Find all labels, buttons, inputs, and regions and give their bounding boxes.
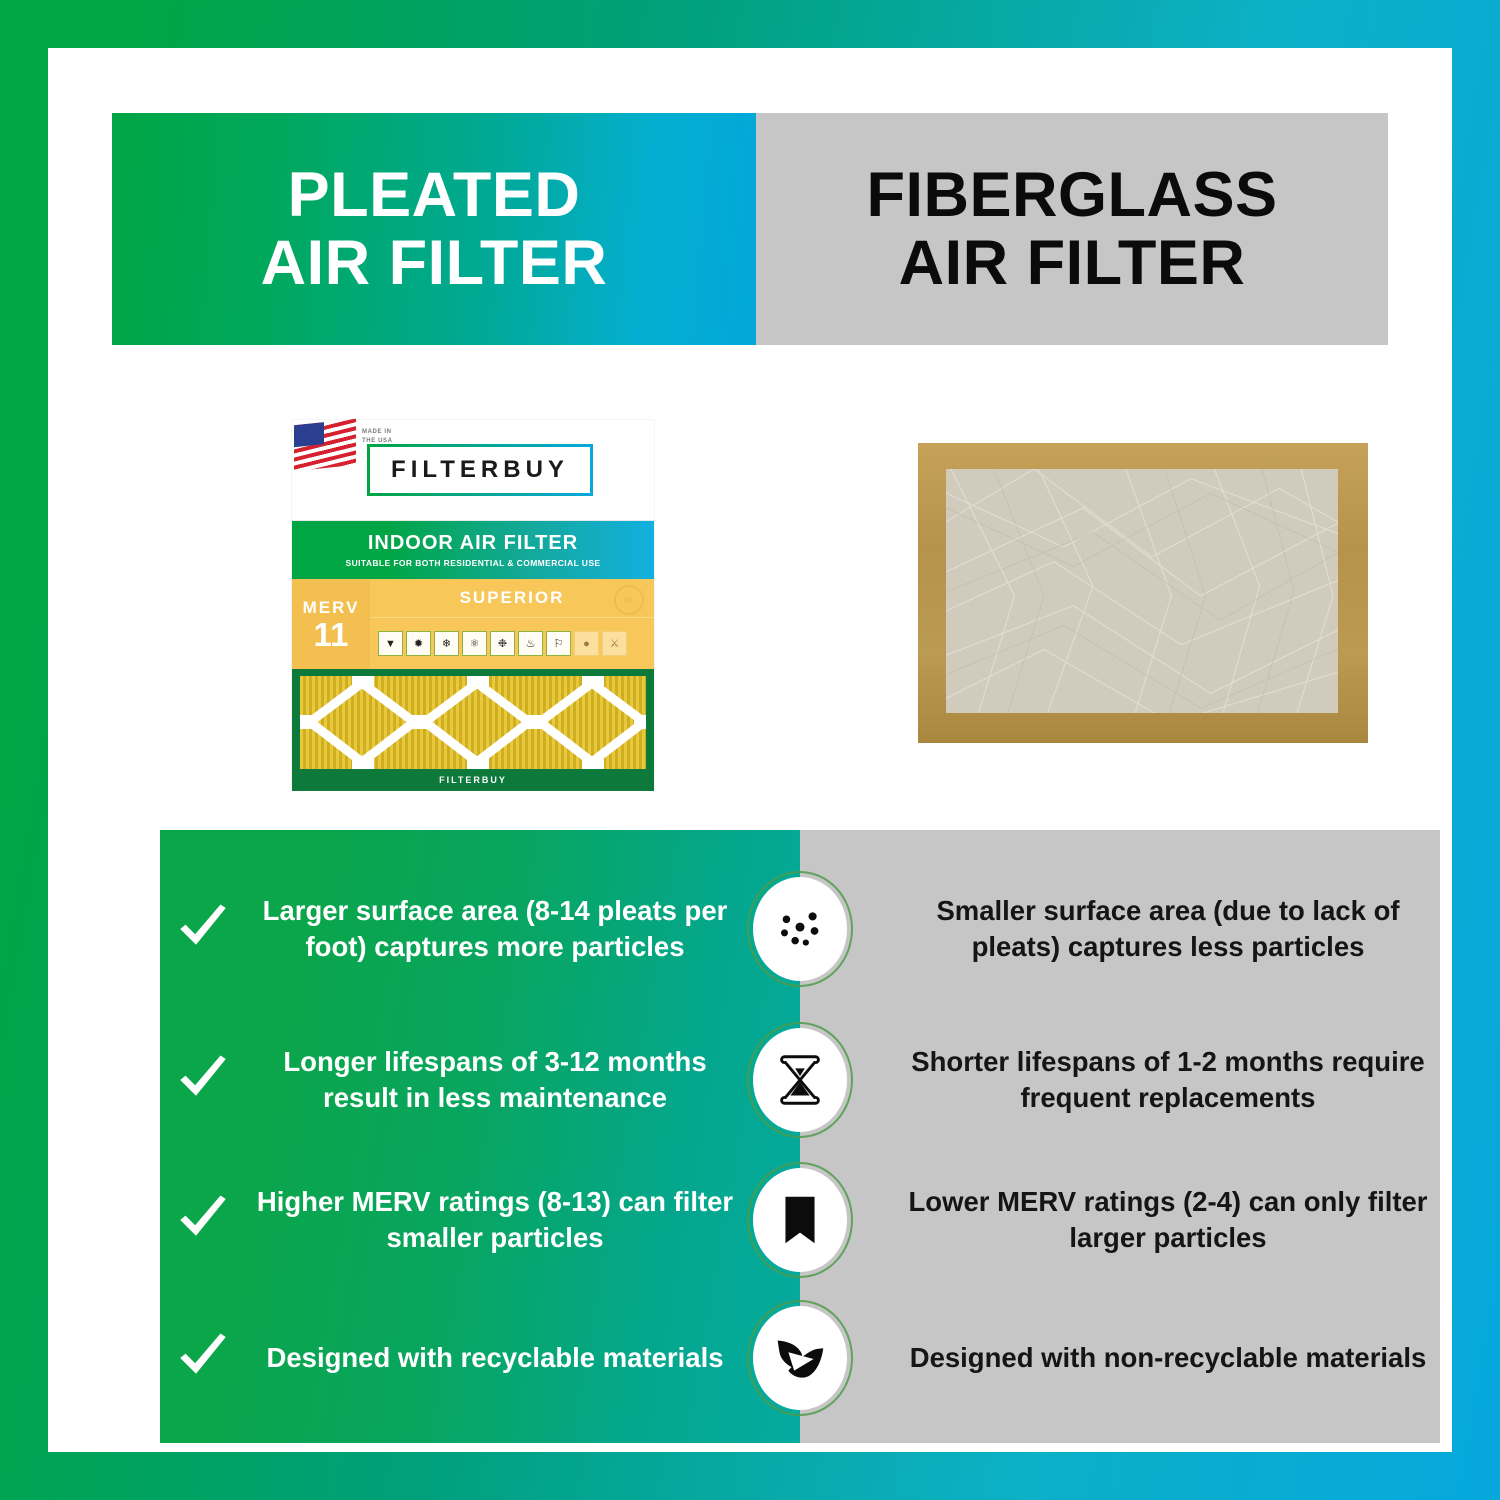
bookmark-glyph <box>769 1189 831 1251</box>
header-fiberglass: FIBERGLASS AIR FILTER <box>756 113 1388 345</box>
bookmark-icon <box>747 1162 853 1278</box>
merv-badge: MERV 11 <box>292 579 370 669</box>
check-mark-icon <box>160 1192 246 1248</box>
row-3-fiberglass-cell: Lower MERV ratings (2-4) can only filter… <box>800 1184 1440 1256</box>
check-mark-icon <box>160 1052 246 1108</box>
row-4-fiberglass-cell: Designed with non-recyclable materials <box>800 1340 1440 1376</box>
odor-icon-disabled: ● <box>574 631 599 656</box>
row-4-pleated-cell: Designed with recyclable materials <box>160 1330 800 1386</box>
comparison-row: Higher MERV ratings (8-13) can filter sm… <box>160 1160 1440 1280</box>
dust-icon: ▼ <box>378 631 403 656</box>
package-merv-section: MERV 11 SUPERIOR UL ▼ ✹ ❄ ⚛ ❉ <box>292 579 654 669</box>
particles-glyph <box>769 898 831 960</box>
row-2-fiberglass-text: Shorter lifespans of 1-2 months require … <box>896 1044 1440 1116</box>
check-mark-icon <box>160 1330 246 1386</box>
product-image-row: MADE IN THE USA FILTERBUY INDOOR AIR FIL… <box>112 358 1388 778</box>
tier-label: SUPERIOR <box>460 588 565 608</box>
pet-dander-icon: ♨ <box>518 631 543 656</box>
hourglass-glyph <box>769 1049 831 1111</box>
infographic-canvas: PLEATED AIR FILTER FIBERGLASS AIR FILTER… <box>48 48 1452 1452</box>
filterbuy-logo: FILTERBUY <box>367 444 593 496</box>
row-1-pleated-cell: Larger surface area (8-14 pleats per foo… <box>160 893 800 965</box>
row-3-fiberglass-text: Lower MERV ratings (2-4) can only filter… <box>896 1184 1440 1256</box>
row-4-pleated-text: Designed with recyclable materials <box>246 1340 744 1376</box>
filterbuy-wordmark: FILTERBUY <box>391 456 569 484</box>
capability-icon-strip: ▼ ✹ ❄ ⚛ ❉ ♨ ⚐ ● ⚔ <box>370 618 654 669</box>
pleated-filter-media: FILTERBUY <box>292 669 654 791</box>
merv-value: 11 <box>314 618 349 651</box>
particles-icon <box>747 871 853 987</box>
merv-label: MERV <box>303 598 360 618</box>
package-band-title: INDOOR AIR FILTER <box>368 532 578 555</box>
row-2-pleated-text: Longer lifespans of 3-12 months result i… <box>246 1044 744 1116</box>
virus-icon-disabled: ⚔ <box>602 631 627 656</box>
row-1-pleated-text: Larger surface area (8-14 pleats per foo… <box>246 893 744 965</box>
comparison-section: Larger surface area (8-14 pleats per foo… <box>160 830 1440 1443</box>
pleated-filter-package-image: MADE IN THE USA FILTERBUY INDOOR AIR FIL… <box>292 420 654 790</box>
header-fiberglass-line2: AIR FILTER <box>899 228 1246 298</box>
header-pleated: PLEATED AIR FILTER <box>112 113 756 345</box>
hourglass-icon <box>747 1022 853 1138</box>
package-band-subtitle: SUITABLE FOR BOTH RESIDENTIAL & COMMERCI… <box>346 558 601 568</box>
row-1-fiberglass-cell: Smaller surface area (due to lack of ple… <box>800 893 1440 965</box>
check-mark-icon <box>160 901 246 957</box>
header-pleated-line2: AIR FILTER <box>261 228 608 298</box>
leaf-eco-icon <box>747 1300 853 1416</box>
comparison-row: Larger surface area (8-14 pleats per foo… <box>160 854 1440 1004</box>
usa-flag-icon <box>294 419 356 472</box>
mold-icon: ❉ <box>490 631 515 656</box>
insect-icon: ✹ <box>406 631 431 656</box>
white-support-mesh <box>300 676 646 769</box>
fiberglass-filter-image <box>918 443 1368 743</box>
fiberglass-fiber-media <box>946 469 1338 713</box>
package-merv-right: SUPERIOR UL ▼ ✹ ❄ ⚛ ❉ ♨ ⚐ ● ⚔ <box>370 579 654 669</box>
comparison-rows: Larger surface area (8-14 pleats per foo… <box>160 830 1440 1443</box>
row-1-fiberglass-text: Smaller surface area (due to lack of ple… <box>896 893 1440 965</box>
smoke-icon: ⚐ <box>546 631 571 656</box>
leaf-eco-glyph <box>769 1327 831 1389</box>
header-fiberglass-line1: FIBERGLASS <box>866 160 1277 230</box>
header-row: PLEATED AIR FILTER FIBERGLASS AIR FILTER <box>112 113 1388 345</box>
package-footer-brand-bar: FILTERBUY <box>292 769 654 791</box>
infographic-frame: PLEATED AIR FILTER FIBERGLASS AIR FILTER… <box>0 0 1500 1500</box>
package-footer-brand: FILTERBUY <box>439 775 507 785</box>
package-header: MADE IN THE USA FILTERBUY <box>292 420 654 521</box>
bacteria-icon: ⚛ <box>462 631 487 656</box>
row-2-pleated-cell: Longer lifespans of 3-12 months result i… <box>160 1044 800 1116</box>
row-3-pleated-text: Higher MERV ratings (8-13) can filter sm… <box>246 1184 744 1256</box>
tier-row: SUPERIOR UL <box>370 579 654 618</box>
comparison-row: Designed with recyclable materials Desig… <box>160 1298 1440 1418</box>
row-2-fiberglass-cell: Shorter lifespans of 1-2 months require … <box>800 1044 1440 1116</box>
header-pleated-line1: PLEATED <box>288 160 581 230</box>
pollen-icon: ❄ <box>434 631 459 656</box>
row-3-pleated-cell: Higher MERV ratings (8-13) can filter sm… <box>160 1184 800 1256</box>
ul-certification-icon: UL <box>614 585 644 615</box>
row-4-fiberglass-text: Designed with non-recyclable materials <box>896 1340 1440 1376</box>
package-product-band: INDOOR AIR FILTER SUITABLE FOR BOTH RESI… <box>292 521 654 579</box>
comparison-row: Longer lifespans of 3-12 months result i… <box>160 1020 1440 1140</box>
made-in-line1: MADE IN <box>362 428 393 437</box>
